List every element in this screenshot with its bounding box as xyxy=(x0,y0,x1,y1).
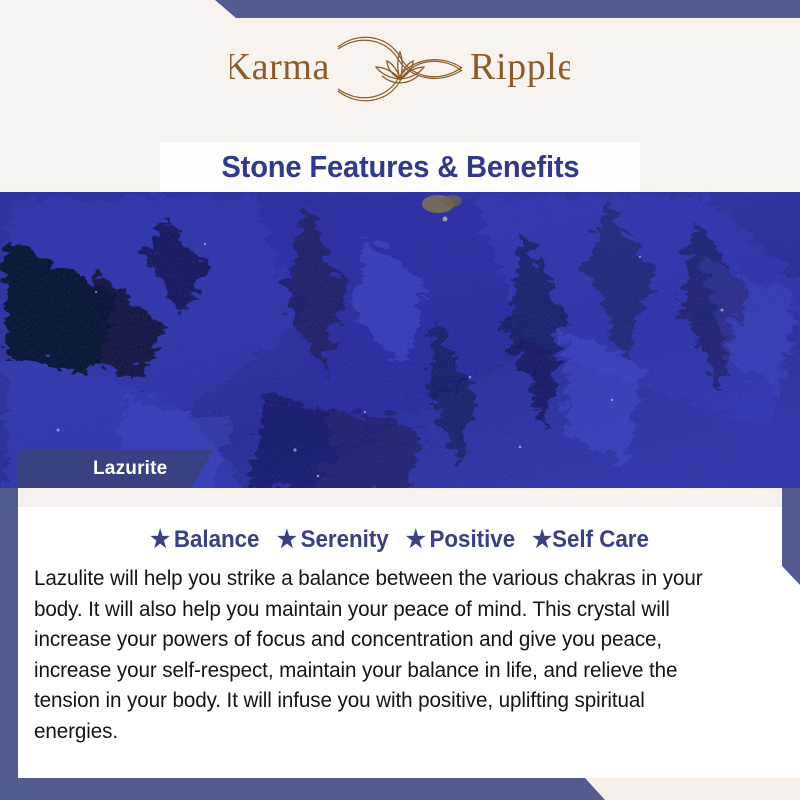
page-title: Stone Features & Benefits xyxy=(221,149,579,185)
star-icon: ★ xyxy=(532,528,552,552)
brand-logo: Karma Ripple xyxy=(0,26,800,112)
stone-name-label: Lazurite xyxy=(93,458,167,480)
benefit-label: Balance xyxy=(174,526,260,554)
benefit-label: Self Care xyxy=(552,526,649,554)
card-body: ★ Balance ★ Serenity ★ Positive ★ Self C… xyxy=(18,507,782,778)
star-icon: ★ xyxy=(276,528,296,552)
brand-name-right: Ripple xyxy=(470,46,570,88)
page-title-band: Stone Features & Benefits xyxy=(160,142,640,192)
stone-description: Lazulite will help you strike a balance … xyxy=(34,563,731,746)
benefit-item-balance: ★ Balance xyxy=(150,526,259,554)
benefit-label: Serenity xyxy=(300,526,388,554)
photo-divider-strip xyxy=(18,488,782,507)
benefit-label: Positive xyxy=(429,526,515,554)
stone-photo xyxy=(0,192,800,488)
star-icon: ★ xyxy=(150,528,170,552)
stone-info-card: Karma Ripple Stone Features & Benefits xyxy=(0,0,800,800)
stone-photo-texture xyxy=(0,192,800,488)
stone-name-tag: Lazurite xyxy=(18,450,213,488)
decorative-frame-left xyxy=(0,488,18,778)
star-icon: ★ xyxy=(406,528,426,552)
brand-name-left: Karma xyxy=(230,46,330,88)
benefit-item-self-care: ★ Self Care xyxy=(524,526,649,554)
benefit-item-positive: ★ Positive xyxy=(397,526,515,554)
benefit-item-serenity: ★ Serenity xyxy=(268,526,388,554)
karma-ripple-logo-svg: Karma Ripple xyxy=(230,27,570,111)
benefits-row: ★ Balance ★ Serenity ★ Positive ★ Self C… xyxy=(18,526,782,554)
